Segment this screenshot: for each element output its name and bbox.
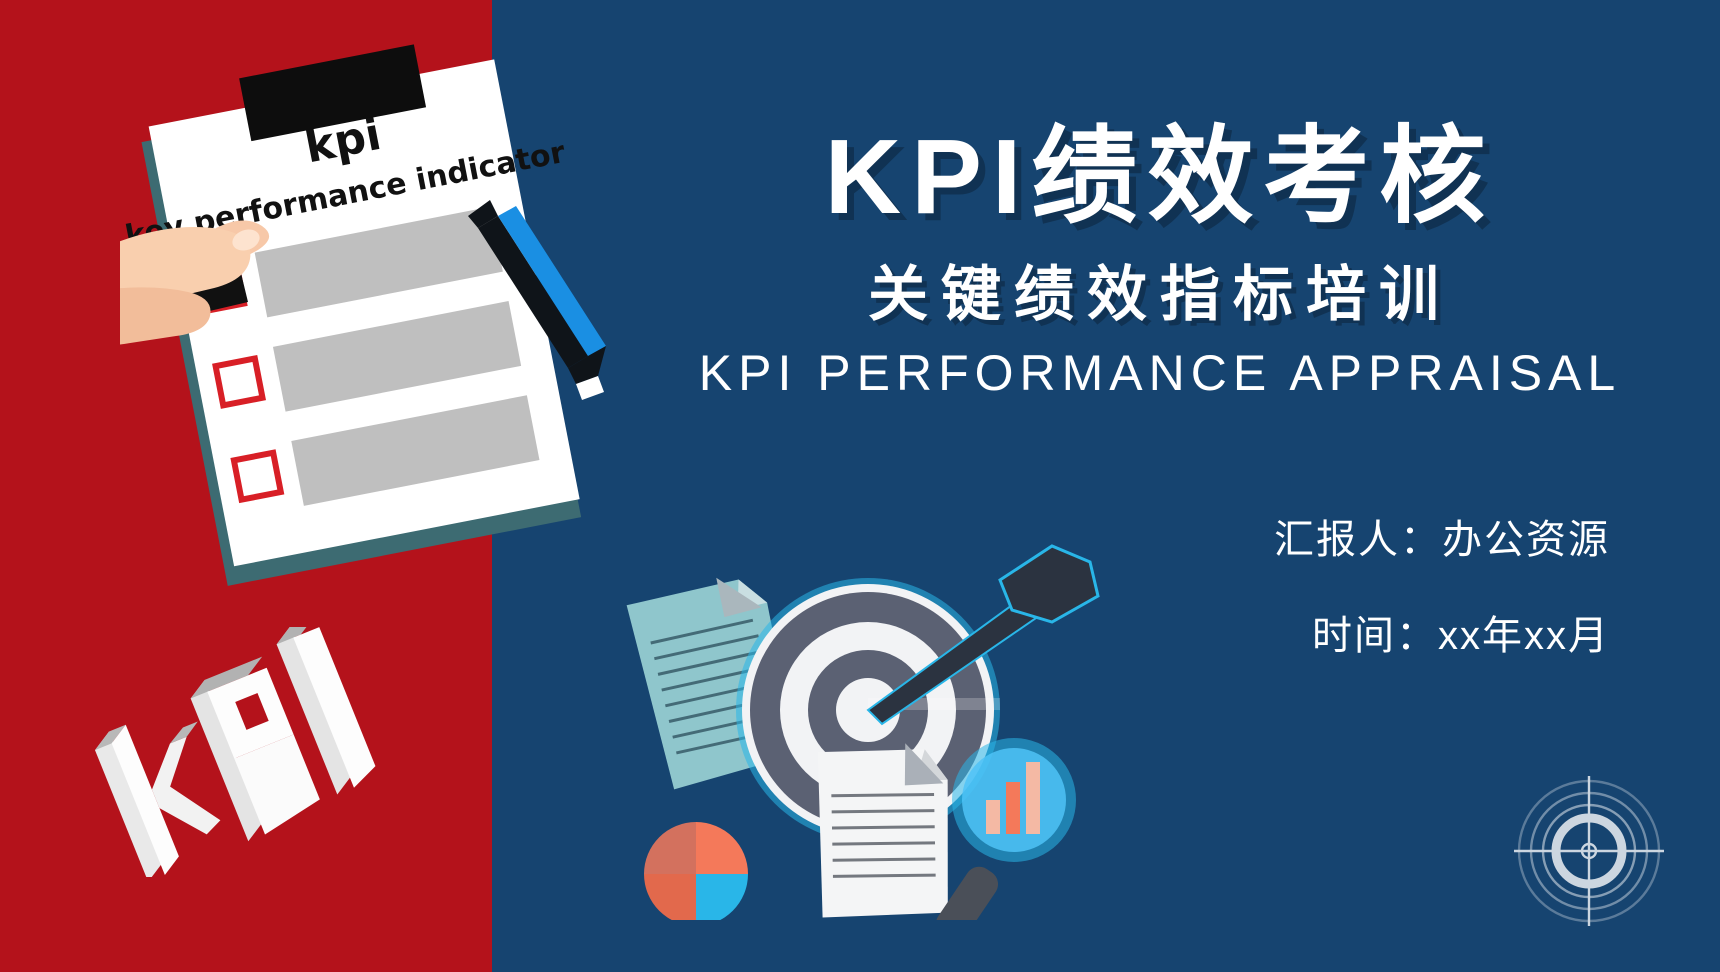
date-line: 时间：xx年xx月 bbox=[1274, 616, 1610, 656]
target-crosshair-icon bbox=[1514, 776, 1664, 926]
page-title: KPI绩效考核 bbox=[640, 120, 1680, 234]
presenter-line: 汇报人：办公资源 bbox=[1274, 520, 1610, 560]
kpi-3d-logo bbox=[88, 627, 388, 877]
title-slide: kpi key performance indicator bbox=[0, 0, 1720, 972]
page-title-english: KPI PERFORMANCE APPRAISAL bbox=[640, 343, 1680, 403]
title-block: KPI绩效考核 关键绩效指标培训 KPI PERFORMANCE APPRAIS… bbox=[640, 120, 1680, 403]
target-illustration-cluster bbox=[600, 500, 1120, 920]
meta-block: 汇报人：办公资源 时间：xx年xx月 bbox=[1274, 520, 1610, 656]
pie-chart-icon bbox=[644, 822, 748, 920]
page-subtitle: 关键绩效指标培训 bbox=[640, 260, 1680, 329]
clipboard-illustration: kpi key performance indicator bbox=[120, 40, 660, 600]
